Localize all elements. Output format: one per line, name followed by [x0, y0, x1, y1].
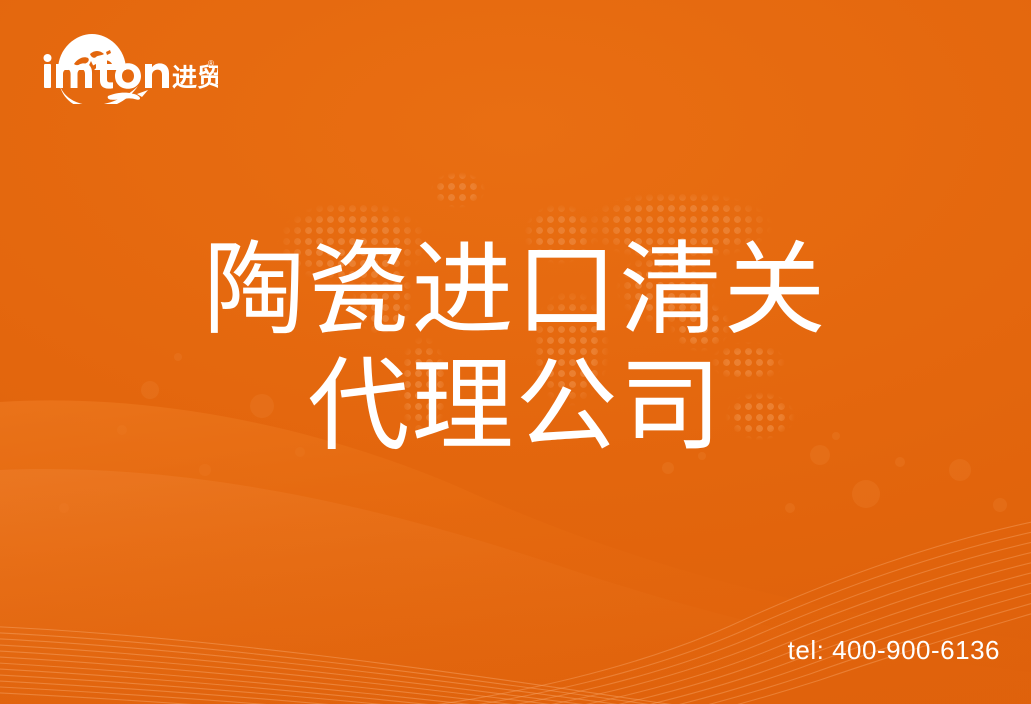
company-logo[interactable]: 进贸通 ® [38, 28, 218, 104]
page-title: 陶瓷进口清关 代理公司 [0, 232, 1031, 464]
swoosh-icon [60, 86, 148, 104]
contact-phone[interactable]: tel: 400-900-6136 [788, 636, 1000, 664]
headline-line-1: 陶瓷进口清关 [0, 232, 1031, 348]
logo-chinese-name: 进贸通 [172, 64, 218, 92]
headline-line-2: 代理公司 [0, 348, 1031, 464]
logo-trademark-symbol: ® [208, 59, 214, 68]
promotional-banner: 进贸通 ® 陶瓷进口清关 代理公司 tel: 400-900-6136 [0, 0, 1031, 704]
